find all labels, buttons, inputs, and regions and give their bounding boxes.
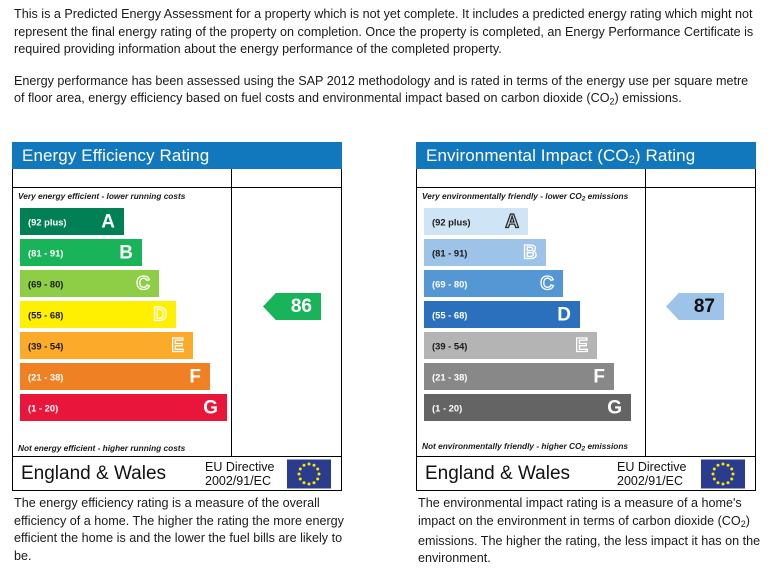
energy-efficiency-caption-top: Very energy efficient - lower running co… <box>18 191 185 201</box>
caption-bottom-part-a: Not environmentally friendly - higher CO <box>422 441 582 451</box>
band-letter-f: F <box>593 367 605 386</box>
environmental-impact-footer: England & Wales EU Directive2002/91/EC <box>417 457 755 490</box>
band-row-e: (39 - 54) E <box>20 332 193 359</box>
band-range-c: (69 - 80) <box>432 278 467 289</box>
band-row-g: (1 - 20) G <box>424 394 631 421</box>
band-row-g: (1 - 20) G <box>20 394 227 421</box>
column-divider <box>645 169 646 187</box>
band-letter-b: B <box>523 243 537 262</box>
band-row-f: (21 - 38) F <box>20 363 210 390</box>
energy-efficiency-rating-title: Energy Efficiency Rating <box>12 142 342 169</box>
footer-region-label: England & Wales <box>425 463 570 485</box>
footer-eu-directive-label: EU Directive2002/91/EC <box>617 460 686 488</box>
band-letter-d: D <box>557 305 571 324</box>
band-row-b: (81 - 91) B <box>424 239 546 266</box>
environmental-title-suffix: ) Rating <box>635 146 695 165</box>
band-range-f: (21 - 38) <box>432 371 467 382</box>
band-row-c: (69 - 80) C <box>424 270 563 297</box>
caption-bottom-part-b: emissions <box>585 441 628 451</box>
column-divider <box>231 169 232 187</box>
band-range-a: (92 plus) <box>28 216 67 227</box>
band-range-b: (81 - 91) <box>28 247 63 258</box>
band-range-g: (1 - 20) <box>28 402 58 413</box>
caption-top-part-b: emissions <box>585 191 628 201</box>
directive-line-2: 2002/91/EC <box>617 474 683 488</box>
band-range-a: (92 plus) <box>432 216 471 227</box>
environmental-impact-rating-panel: Environmental Impact (CO2) Rating Very e… <box>416 142 756 491</box>
environmental-impact-caption-bottom: Not environmentally friendly - higher CO… <box>422 441 628 453</box>
band-range-e: (39 - 54) <box>432 340 467 351</box>
band-row-d: (55 - 68) D <box>20 301 176 328</box>
environmental-impact-current-rating-arrow: 87 <box>666 293 724 320</box>
band-letter-g: G <box>607 398 622 417</box>
band-range-c: (69 - 80) <box>28 278 63 289</box>
energy-efficiency-caption-bottom: Not energy efficient - higher running co… <box>18 443 185 453</box>
environmental-impact-rating-title: Environmental Impact (CO2) Rating <box>416 142 756 169</box>
environmental-title-prefix: Environmental Impact (CO <box>426 146 629 165</box>
environmental-impact-chart-body: Very environmentally friendly - lower CO… <box>417 188 755 457</box>
band-range-e: (39 - 54) <box>28 340 63 351</box>
band-range-g: (1 - 20) <box>432 402 462 413</box>
intro-paragraph-2: Energy performance has been assessed usi… <box>14 73 760 111</box>
energy-efficiency-rating-panel: Energy Efficiency Rating Very energy eff… <box>12 142 342 491</box>
intro-paragraph-1: This is a Predicted Energy Assessment fo… <box>14 6 760 59</box>
band-letter-e: E <box>575 336 588 355</box>
intro-paragraph-2-part-b: ) emissions. <box>615 91 682 105</box>
column-divider <box>645 188 646 456</box>
band-letter-a: A <box>505 212 519 231</box>
environmental-impact-chart-box: Very environmentally friendly - lower CO… <box>416 169 756 491</box>
environmental-impact-caption-top: Very environmentally friendly - lower CO… <box>422 191 628 203</box>
energy-efficiency-chart-box: Very energy efficient - lower running co… <box>12 169 342 491</box>
band-range-b: (81 - 91) <box>432 247 467 258</box>
column-divider <box>231 188 232 456</box>
footer-eu-directive-label: EU Directive2002/91/EC <box>205 460 274 488</box>
energy-efficiency-bands: (92 plus) A (81 - 91) B (69 - 80) C (55 … <box>20 208 227 425</box>
band-row-b: (81 - 91) B <box>20 239 142 266</box>
environmental-impact-header-strip <box>417 169 755 188</box>
environmental-impact-explanation: The environmental impact rating is a mea… <box>418 495 766 568</box>
energy-efficiency-explanation: The energy efficiency rating is a measur… <box>14 495 344 565</box>
band-letter-a: A <box>101 212 115 231</box>
band-range-d: (55 - 68) <box>28 309 63 320</box>
band-row-f: (21 - 38) F <box>424 363 614 390</box>
band-letter-c: C <box>540 274 554 293</box>
energy-efficiency-current-rating-arrow: 86 <box>263 293 321 320</box>
directive-line-1: EU Directive <box>617 460 686 474</box>
environmental-impact-bands: (92 plus) A (81 - 91) B (69 - 80) C (55 … <box>424 208 631 425</box>
directive-line-2: 2002/91/EC <box>205 474 271 488</box>
footer-region-label: England & Wales <box>21 463 166 485</box>
caption-top-part-a: Very environmentally friendly - lower CO <box>422 191 582 201</box>
eu-flag-icon <box>701 459 745 488</box>
energy-efficiency-footer: England & Wales EU Directive2002/91/EC <box>13 457 341 490</box>
intro-text-block: This is a Predicted Energy Assessment fo… <box>14 6 760 111</box>
band-letter-e: E <box>171 336 184 355</box>
band-row-a: (92 plus) A <box>424 208 528 235</box>
band-letter-d: D <box>153 305 167 324</box>
band-row-c: (69 - 80) C <box>20 270 159 297</box>
energy-efficiency-header-strip <box>13 169 341 188</box>
eu-flag-icon <box>287 459 331 488</box>
band-row-d: (55 - 68) D <box>424 301 580 328</box>
band-letter-c: C <box>136 274 150 293</box>
energy-efficiency-chart-body: Very energy efficient - lower running co… <box>13 188 341 457</box>
band-row-a: (92 plus) A <box>20 208 124 235</box>
directive-line-1: EU Directive <box>205 460 274 474</box>
band-letter-f: F <box>189 367 201 386</box>
explanation-part-a: The environmental impact rating is a mea… <box>418 496 742 528</box>
band-letter-b: B <box>119 243 133 262</box>
band-letter-g: G <box>203 398 218 417</box>
band-range-d: (55 - 68) <box>432 309 467 320</box>
band-range-f: (21 - 38) <box>28 371 63 382</box>
band-row-e: (39 - 54) E <box>424 332 597 359</box>
